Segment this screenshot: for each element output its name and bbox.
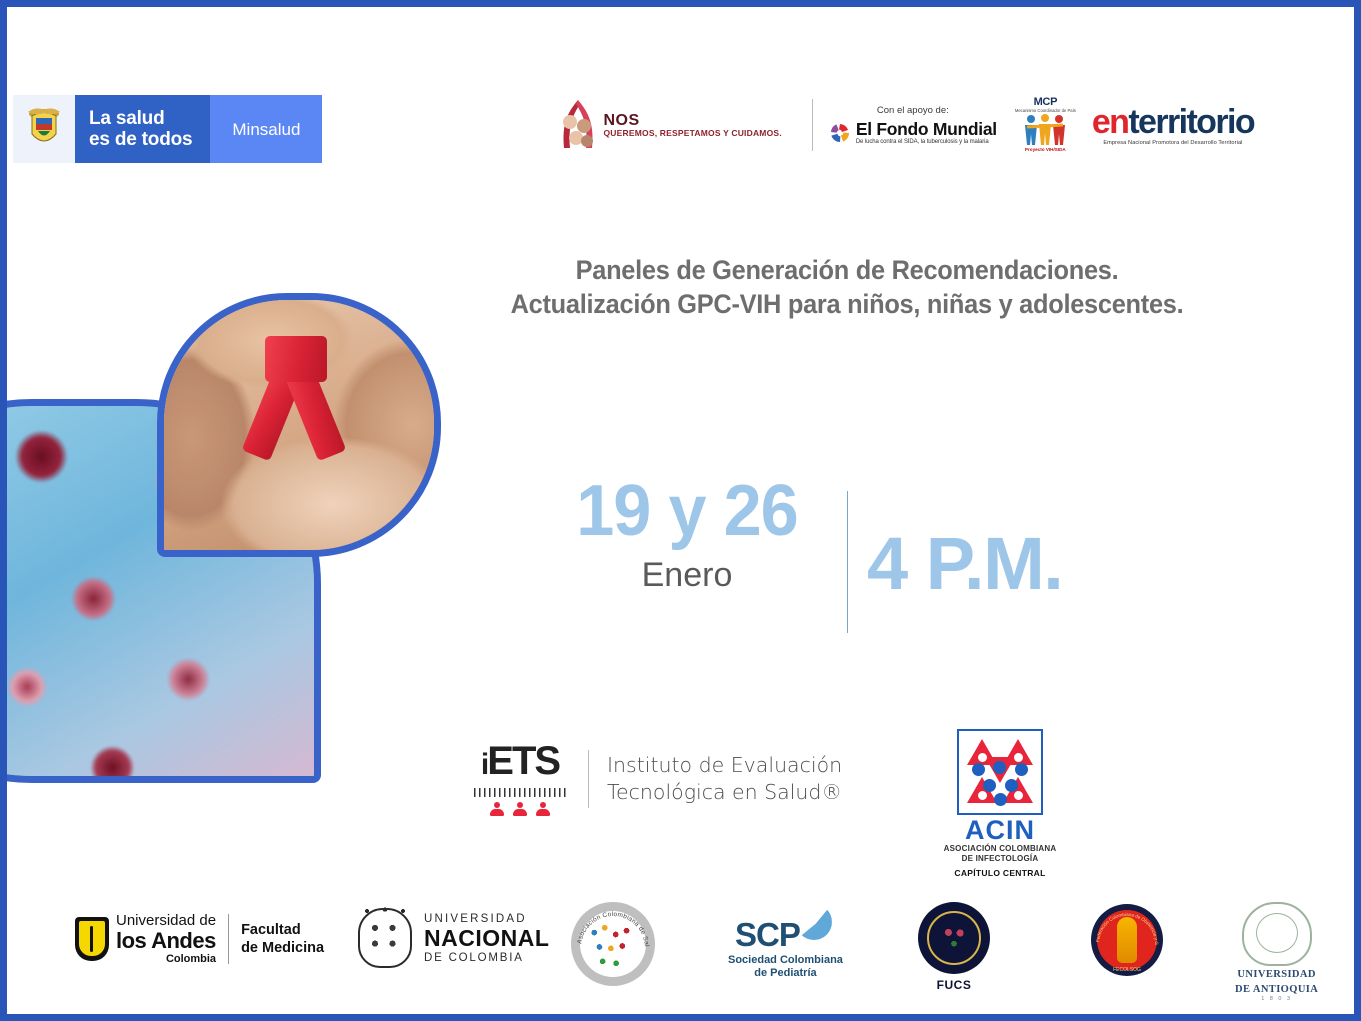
poster-canvas: La salud es de todos Minsalud NOS QUEREM… xyxy=(0,0,1361,1021)
page-title: Paneles de Generación de Recomendaciones… xyxy=(424,253,1270,321)
supporter-logo-fucs: FUCS xyxy=(918,902,990,992)
event-month: Enero xyxy=(527,555,847,595)
svg-text:Federación Colombiana de Obste: Federación Colombiana de Obstetricia y G… xyxy=(1091,904,1159,945)
supporter-logo-unal: UNIVERSIDAD NACIONAL DE COLOMBIA xyxy=(358,908,549,968)
minsalud-slogan: La salud es de todos xyxy=(75,95,210,163)
minsalud-slogan-line2: es de todos xyxy=(89,129,192,150)
enterritorio-tagline: Empresa Nacional Promotora del Desarroll… xyxy=(1103,140,1242,146)
mcp-logo: MCP Mecanismo Coordinador de País Proyec… xyxy=(1015,97,1076,153)
iets-wordmark: iETS xyxy=(481,741,559,785)
fucs-seal-icon xyxy=(918,902,990,974)
support-label: Con el apoyo de: xyxy=(877,105,949,116)
acsp-ring-text: Asociación Colombiana de Salud Pública xyxy=(571,902,650,947)
supporter-logo-uniandes: Universidad de los Andes Colombia Facult… xyxy=(75,912,324,966)
supporter-logo-scp: SCP Sociedad Colombiana de Pediatría xyxy=(728,918,843,980)
udea-seal-icon xyxy=(1242,902,1312,966)
nos-campaign-text: NOS QUEREMOS, RESPETAMOS Y CUIDAMOS. xyxy=(604,113,782,138)
header-divider xyxy=(812,99,813,151)
red-aids-ribbon-icon xyxy=(239,340,349,490)
hands-holding-red-aids-ribbon-photo xyxy=(157,293,441,557)
svg-text:Asociación Colombiana de Salud: Asociación Colombiana de Salud Pública xyxy=(571,902,650,947)
minsalud-brand: Minsalud xyxy=(210,95,322,163)
ruler-icon xyxy=(474,788,566,797)
three-people-icon xyxy=(490,802,550,816)
event-datetime: 19 y 26 Enero 4 P.M. xyxy=(507,473,1207,648)
organizer-logos: iETS Instituto de Evaluación Tecnológica… xyxy=(462,729,1082,869)
acin-logo: ACIN ASOCIACIÓN COLOMBIANA DE INFECTOLOG… xyxy=(940,729,1060,879)
decorative-artwork xyxy=(7,279,447,779)
minsalud-slogan-line1: La salud xyxy=(89,108,192,129)
uniandes-divider xyxy=(228,914,229,964)
supporter-logo-udea: UNIVERSIDAD DE ANTIOQUIA 1 8 0 3 xyxy=(1235,902,1318,1002)
fecolsog-bottom-text: FECOLSOG xyxy=(1113,967,1141,973)
acin-sub1: ASOCIACIÓN COLOMBIANA xyxy=(940,844,1060,854)
red-ribbon-faces-icon xyxy=(556,96,600,154)
fondo-mundial-spiral-icon xyxy=(829,122,851,144)
supporter-logo-strip: Universidad de los Andes Colombia Facult… xyxy=(13,896,1354,992)
acin-sub2: DE INFECTOLOGÍA xyxy=(940,854,1060,864)
supporter-logo-fecolsog: Federación Colombiana de Obstetricia y G… xyxy=(1091,904,1163,976)
event-time: 4 P.M. xyxy=(867,525,1197,603)
fucs-acronym: FUCS xyxy=(937,978,972,992)
datetime-divider xyxy=(847,491,848,633)
nos-campaign-logo: NOS QUEREMOS, RESPETAMOS Y CUIDAMOS. xyxy=(556,96,796,154)
iets-fullname: Instituto de Evaluación Tecnológica en S… xyxy=(607,752,842,806)
scp-swirl-icon xyxy=(796,904,836,940)
colombia-coat-of-arms-icon xyxy=(13,95,75,163)
scp-acronym: SCP xyxy=(735,918,800,951)
title-line-2: Actualización GPC-VIH para niños, niñas … xyxy=(424,287,1270,321)
fondo-mundial-logo: Con el apoyo de: El Fondo Mundial De luc… xyxy=(829,105,997,145)
enterritorio-logo: enterritorio Empresa Nacional Promotora … xyxy=(1092,105,1254,146)
enterritorio-territorio: territorio xyxy=(1128,103,1254,141)
mcp-three-figures-icon xyxy=(1023,113,1067,147)
unal-crest-icon xyxy=(358,908,412,968)
title-line-1: Paneles de Generación de Recomendaciones… xyxy=(424,253,1270,287)
fecolsog-ring-text: Federación Colombiana de Obstetricia y G… xyxy=(1091,904,1159,945)
uniandes-shield-icon xyxy=(75,917,109,961)
partner-logos: NOS QUEREMOS, RESPETAMOS Y CUIDAMOS. Con… xyxy=(556,89,1255,161)
fondo-mundial-tagline: De lucha contra el SIDA, la tuberculosis… xyxy=(856,139,997,145)
enterritorio-en: en xyxy=(1092,103,1128,141)
acin-sub3: CAPÍTULO CENTRAL xyxy=(940,867,1060,879)
acsp-ring-icon: Asociación Colombiana de Salud Pública xyxy=(571,902,655,986)
event-days: 19 y 26 xyxy=(535,473,839,549)
fecolsog-seal-icon: Federación Colombiana de Obstetricia y G… xyxy=(1091,904,1163,976)
iets-divider xyxy=(588,750,589,808)
acin-emblem-icon xyxy=(957,729,1043,815)
fondo-mundial-name: El Fondo Mundial xyxy=(856,120,997,138)
minsalud-logo: La salud es de todos Minsalud xyxy=(13,95,322,163)
iets-logo: iETS Instituto de Evaluación Tecnológica… xyxy=(470,741,842,816)
supporter-logo-acsp: Asociación Colombiana de Salud Pública xyxy=(571,902,655,986)
acin-acronym: ACIN xyxy=(940,816,1060,844)
